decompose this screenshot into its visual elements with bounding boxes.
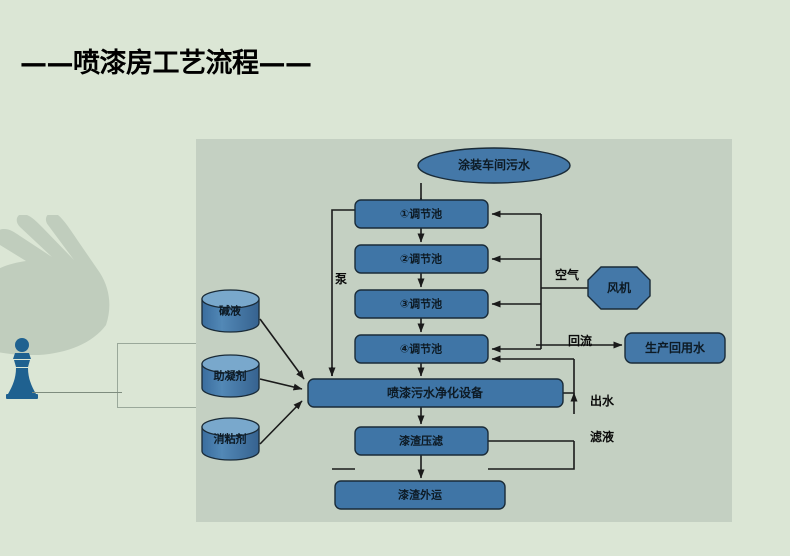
adjust-tank-2-shape[interactable] (355, 245, 488, 273)
coagulant-aid-tank-shape[interactable] (202, 355, 259, 397)
decorative-line (32, 392, 122, 393)
slide-canvas: ——喷漆房工艺流程—— (0, 0, 790, 556)
blower-fan-shape[interactable] (588, 267, 650, 309)
process-flow-svg (196, 139, 732, 522)
wastewater-source-shape[interactable] (418, 148, 570, 183)
anti-sticking-agent-tank-shape[interactable] (202, 418, 259, 460)
process-flow-diagram-panel: 涂装车间污水 ①调节池 ②调节池 ③调节池 ④调节池 喷漆污水净化设备 漆渣压滤… (196, 139, 732, 522)
alkali-liquid-tank-shape[interactable] (202, 290, 259, 332)
adjust-tank-4-shape[interactable] (355, 335, 488, 363)
production-reuse-water-shape[interactable] (625, 333, 725, 363)
dosing-arrows (260, 319, 304, 444)
paint-slag-filter-press-shape[interactable] (355, 427, 488, 455)
page-title: ——喷漆房工艺流程—— (20, 45, 440, 83)
paint-slag-transport-shape[interactable] (335, 481, 505, 509)
paint-wastewater-purifier-shape[interactable] (308, 379, 563, 407)
title-block: ——喷漆房工艺流程—— (20, 45, 440, 90)
chess-pawn-decoration (2, 337, 42, 399)
adjust-tank-3-shape[interactable] (355, 290, 488, 318)
adjust-tank-1-shape[interactable] (355, 200, 488, 228)
hand-silhouette-decoration (0, 215, 120, 355)
